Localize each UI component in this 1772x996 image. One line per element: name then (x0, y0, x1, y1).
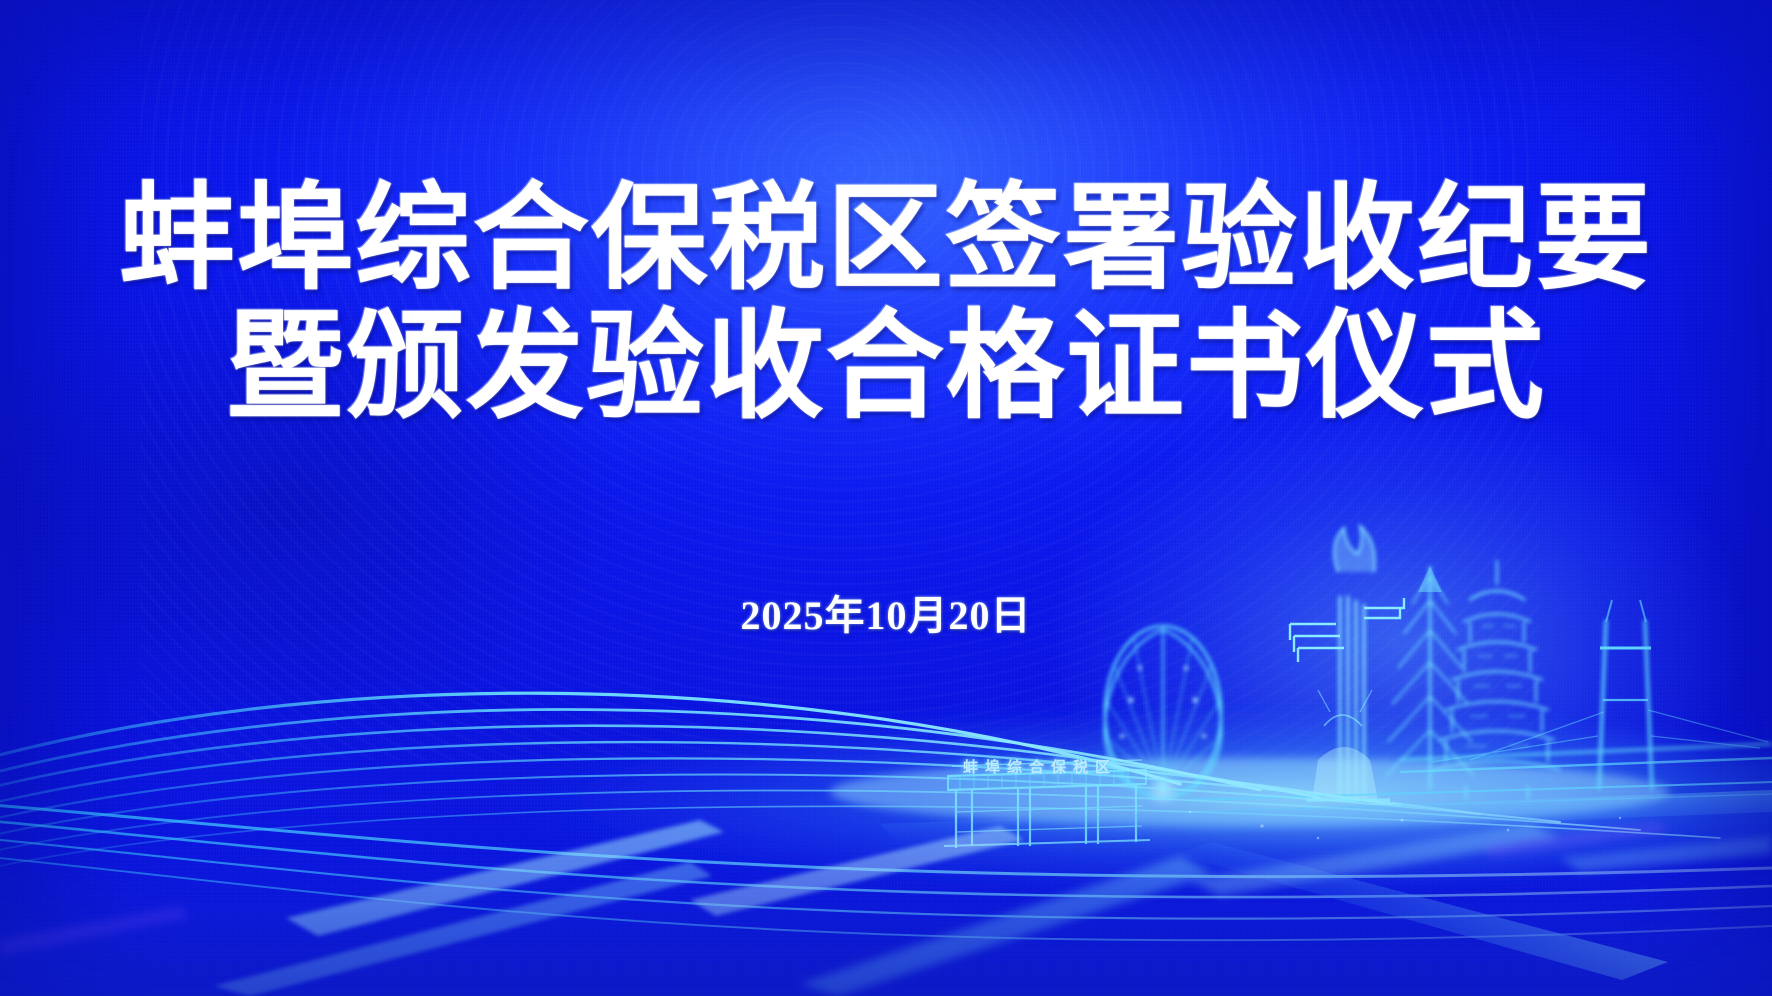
presentation-backdrop: 蚌埠综合保税区签署验收纪要 暨颁发验收合格证书仪式 2025年10月20日 蚌埠… (0, 0, 1772, 996)
title-line-2: 暨颁发验收合格证书仪式 (0, 304, 1772, 432)
skyline-artwork (0, 0, 1772, 996)
title-block: 蚌埠综合保税区签署验收纪要 暨颁发验收合格证书仪式 (0, 176, 1772, 432)
gate-sign-text: 蚌埠综合保税区 (963, 756, 1117, 777)
event-date: 2025年10月20日 (0, 583, 1772, 641)
title-line-1: 蚌埠综合保税区签署验收纪要 (0, 176, 1772, 304)
